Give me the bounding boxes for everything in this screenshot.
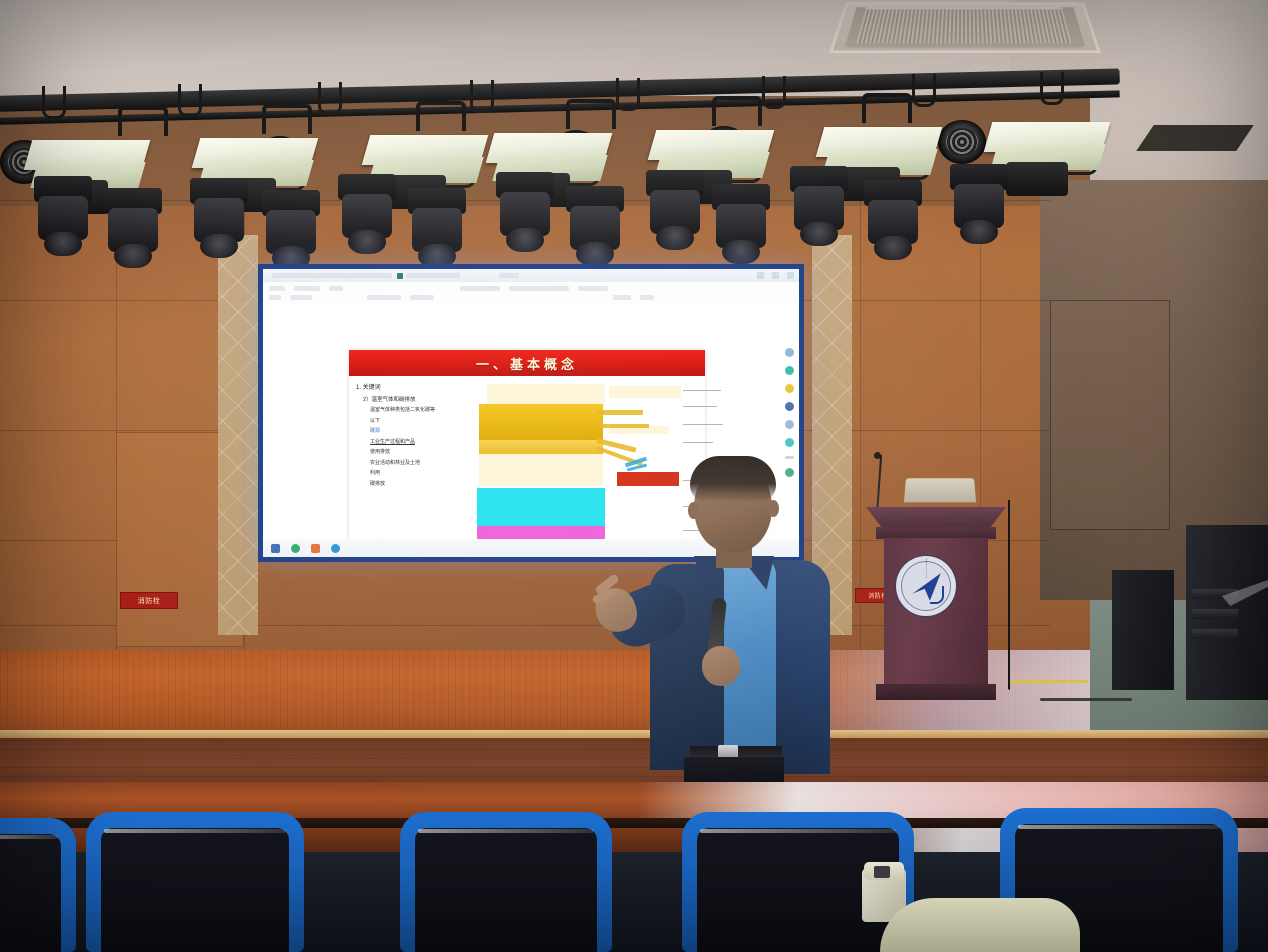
av-equipment-rack <box>1186 525 1268 700</box>
light-lens <box>200 234 238 258</box>
bullet-item: 碳排放 <box>370 481 473 489</box>
light-lens <box>348 230 386 254</box>
truss-hook <box>912 74 936 107</box>
truss-hook <box>178 84 202 117</box>
slide-bullet-list: 1. 关键词 2）温室气体和碳排放 温室气体种类包括二氧化碳等 以下 碳源 工业… <box>349 376 477 546</box>
app-tab[interactable] <box>397 273 460 279</box>
truss-clamp <box>566 99 616 129</box>
moving-head-light <box>408 188 466 274</box>
moving-head-light <box>338 174 396 260</box>
light-lens <box>800 222 838 246</box>
chat-icon[interactable] <box>331 544 340 553</box>
diagram-block <box>609 386 681 398</box>
diagram-hairline <box>683 442 713 443</box>
truss-clamp <box>862 93 912 123</box>
fire-hydrant-sign-label: 消防栓 <box>138 596 161 606</box>
mail-icon[interactable] <box>311 544 320 553</box>
chair-sheen <box>0 835 58 839</box>
truss-hook <box>1040 72 1064 105</box>
podium-top <box>866 507 1006 529</box>
audience-chair[interactable] <box>400 812 612 952</box>
air-conditioner-grille <box>850 9 1080 43</box>
bullet-item: 使用排放 <box>370 449 473 457</box>
light-lens <box>722 240 760 264</box>
diagram-block <box>487 384 605 406</box>
audience-chair[interactable] <box>86 812 304 952</box>
minimize-icon[interactable] <box>757 272 764 279</box>
ear <box>768 500 779 517</box>
diagram-flow <box>597 424 649 428</box>
ear <box>688 502 699 519</box>
moving-head-light <box>104 188 162 274</box>
light-lens <box>656 226 694 250</box>
wall-panel-seam <box>860 200 861 650</box>
moving-head-light <box>712 184 770 270</box>
toolbar-chip[interactable] <box>410 295 434 300</box>
floor-cable <box>1010 680 1088 683</box>
podium-cable <box>1008 500 1010 690</box>
maximize-icon[interactable] <box>772 272 779 279</box>
toolbar-chip[interactable] <box>367 295 401 300</box>
bullet-item: 2）温室气体和碳排放 <box>363 395 473 403</box>
slide-title-banner: 一、基本概念 <box>349 350 705 376</box>
rack-shelf <box>1192 629 1238 639</box>
moving-head-light <box>566 186 624 272</box>
fire-hydrant-sign: 消防栓 <box>120 592 178 609</box>
bullet-item: 温室气体种类包括二氧化碳等 <box>370 407 473 415</box>
clock-icon[interactable] <box>785 420 794 429</box>
gooseneck-microphone-head <box>874 452 881 459</box>
hair <box>690 456 776 502</box>
moving-head-light <box>950 164 1008 250</box>
diagram-hairline <box>683 424 723 425</box>
toolbar-chip[interactable] <box>509 286 569 291</box>
chair-sheen <box>700 829 896 833</box>
toolbar-chip[interactable] <box>294 286 320 291</box>
toolbar-chip[interactable] <box>640 295 654 300</box>
beige-cloth <box>880 898 1080 952</box>
star-icon[interactable] <box>785 366 794 375</box>
toolbar-row-bottom <box>269 294 654 301</box>
chair-sheen <box>104 829 286 833</box>
chair-cushion <box>101 828 289 952</box>
window-controls[interactable] <box>757 272 794 279</box>
toolbar-chip[interactable] <box>290 295 312 300</box>
truss-clamp <box>416 101 466 131</box>
toolbar-row-top <box>269 285 608 292</box>
bullet-item: 1. 关键词 <box>356 382 473 391</box>
light-lens <box>576 242 614 266</box>
toolbar-chip[interactable] <box>613 295 631 300</box>
auditorium-scene: 消防栓 消防栓 <box>0 0 1268 952</box>
truss-hook <box>470 80 494 113</box>
bullet-item: 碳源 <box>370 428 473 436</box>
truss-hook <box>318 82 342 115</box>
titlebar-chip <box>272 273 392 278</box>
light-lens <box>44 232 82 256</box>
toolbar-chip[interactable] <box>269 286 285 291</box>
bullet-item: 以下 <box>370 418 473 426</box>
toolbar-chip[interactable] <box>269 295 281 300</box>
moving-head-light <box>190 178 248 264</box>
light-body <box>1006 162 1068 196</box>
titlebar-chip <box>499 273 519 278</box>
start-icon[interactable] <box>271 544 280 553</box>
app-icon <box>397 273 403 279</box>
presenter <box>598 460 848 780</box>
diagram-block <box>479 454 603 486</box>
truss-hook <box>42 86 66 119</box>
chair-sheen <box>418 829 594 833</box>
microphone-hand <box>702 646 740 686</box>
ac-slat <box>849 43 1081 47</box>
laptop-computer[interactable] <box>904 478 976 502</box>
toolbar-chip[interactable] <box>460 286 500 291</box>
trousers <box>684 757 784 783</box>
diagram-block <box>477 488 605 526</box>
truss-hook <box>616 78 640 111</box>
audience-chair[interactable] <box>0 818 76 952</box>
diagram-block <box>479 404 603 440</box>
chair-sheen <box>1018 825 1220 829</box>
moving-head-light <box>790 166 848 252</box>
podium-base <box>876 684 996 700</box>
minus-icon[interactable] <box>785 456 794 459</box>
bullet-item: 农业活动和林业及土地 <box>370 460 473 468</box>
truss-hook <box>762 76 786 109</box>
chair-cushion <box>415 828 597 952</box>
floor-cable <box>1040 698 1132 701</box>
globe-icon[interactable] <box>785 438 794 447</box>
person-icon[interactable] <box>785 402 794 411</box>
par-can-light <box>938 120 986 164</box>
truss-clamp <box>712 96 762 126</box>
browser-icon[interactable] <box>291 544 300 553</box>
slide-title: 一、基本概念 <box>476 354 578 373</box>
wall-panel-door <box>1050 300 1170 530</box>
diagram-block <box>479 440 603 454</box>
air-conditioner-unit <box>829 2 1101 53</box>
note-icon[interactable] <box>785 384 794 393</box>
wall-diamond-trim <box>218 235 258 635</box>
moving-head-light <box>864 180 922 266</box>
loudspeaker-cabinet <box>1112 570 1174 690</box>
toolbar-chip[interactable] <box>329 286 343 291</box>
thermos-handle <box>874 866 890 878</box>
truss-clamp <box>262 104 312 134</box>
light-lens <box>960 220 998 244</box>
moving-head-light <box>34 176 92 262</box>
bullet-item: 利用 <box>370 470 473 478</box>
moving-head-light <box>646 170 704 256</box>
truss-clamp <box>118 106 168 136</box>
bullet-item: 工业生产过程和产品 <box>370 439 473 447</box>
diagram-hairline <box>683 406 717 407</box>
ceiling-vent <box>1136 125 1254 151</box>
tab-label <box>406 273 460 278</box>
university-emblem <box>896 556 956 616</box>
diagram-hairline <box>683 390 721 391</box>
cloud-icon[interactable] <box>785 348 794 357</box>
moving-head-light <box>496 172 554 258</box>
app-toolbar[interactable] <box>263 282 799 305</box>
close-icon[interactable] <box>787 272 794 279</box>
toolbar-chip[interactable] <box>578 286 608 291</box>
app-titlebar <box>263 269 799 282</box>
chair-cushion <box>0 834 61 952</box>
light-lens <box>506 228 544 252</box>
light-lens <box>114 244 152 268</box>
diagram-flow <box>597 410 643 415</box>
rack-shelf <box>1192 609 1238 619</box>
emblem-hook-icon <box>930 586 944 604</box>
light-lens <box>874 236 912 260</box>
